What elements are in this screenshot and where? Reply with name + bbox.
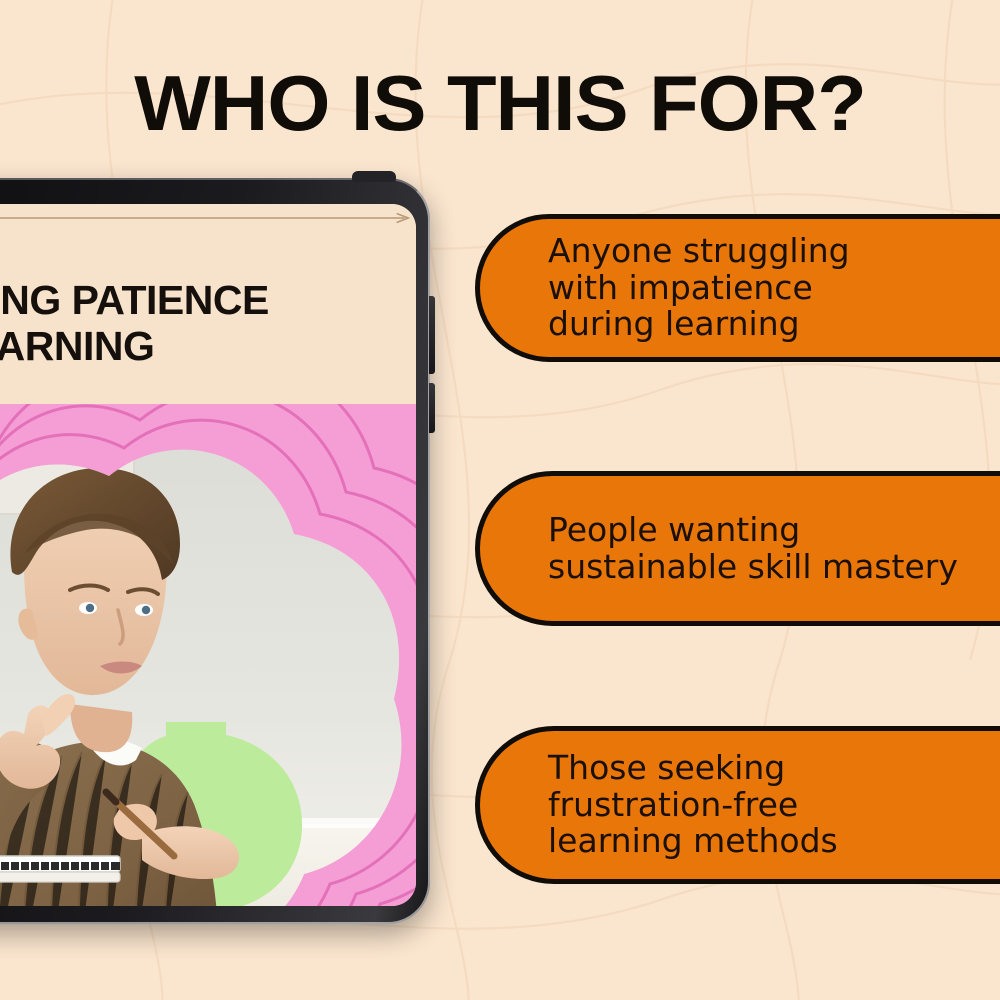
callout-text-3: Those seeking frustration-free learning … bbox=[480, 750, 858, 861]
page-title: WHO IS THIS FOR? bbox=[0, 58, 1000, 149]
callout-box-1[interactable]: Anyone struggling with impatience during… bbox=[475, 214, 1000, 362]
volume-up-button[interactable] bbox=[429, 296, 435, 374]
camera-icon bbox=[352, 171, 396, 182]
cover-title-line-2: LE LEARNING bbox=[0, 324, 416, 370]
callout-text-1: Anyone struggling with impatience during… bbox=[480, 233, 870, 344]
callout-box-3[interactable]: Those seeking frustration-free learning … bbox=[475, 726, 1000, 884]
slide-canvas: WHO IS THIS FOR? STERING PATIENCE LE LEA… bbox=[0, 0, 1000, 1000]
volume-down-button[interactable] bbox=[429, 383, 435, 433]
cover-title: STERING PATIENCE LE LEARNING bbox=[0, 278, 416, 370]
callout-box-2[interactable]: People wanting sustainable skill mastery bbox=[475, 471, 1000, 626]
arrow-rule-icon bbox=[0, 212, 416, 224]
tablet-mockup: STERING PATIENCE LE LEARNING bbox=[0, 178, 430, 924]
cover-top-band: STERING PATIENCE LE LEARNING bbox=[0, 204, 416, 404]
callout-text-2: People wanting sustainable skill mastery bbox=[480, 512, 978, 586]
cover-photo-artwork bbox=[0, 404, 416, 906]
tablet-screen[interactable]: STERING PATIENCE LE LEARNING bbox=[0, 204, 416, 906]
cover-title-line-1: STERING PATIENCE bbox=[0, 278, 416, 324]
cover-photo-panel bbox=[0, 404, 416, 906]
